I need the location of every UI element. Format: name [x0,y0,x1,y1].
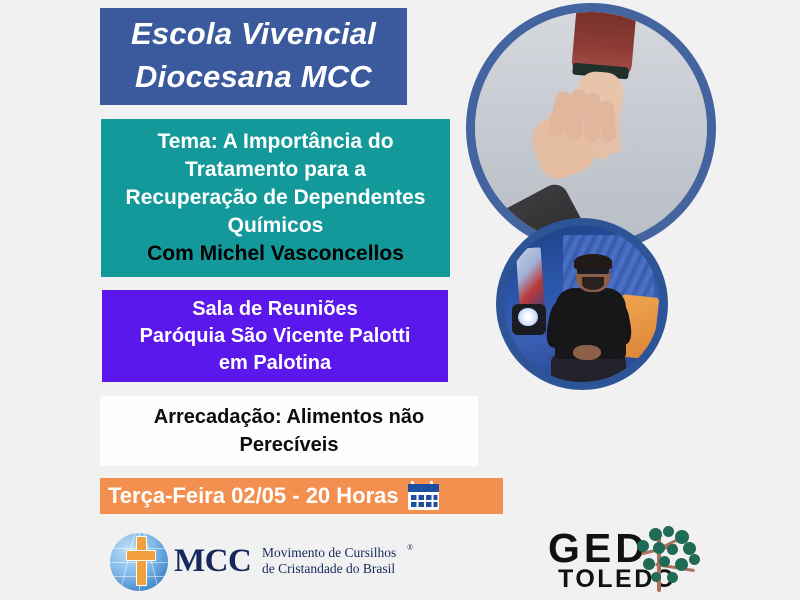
tree-leaf [689,554,700,565]
cross-horizontal-bar [126,550,156,561]
tree-leaf [649,528,662,541]
theme-line-1: Tema: A Importância do [157,128,393,156]
theme-line-2: Tratamento para a [185,156,366,184]
tree-leaf [675,558,688,571]
donation-box: Arrecadação: Alimentos não Perecíveis [100,396,478,466]
cross-icon [126,536,156,586]
location-box: Sala de Reuniões Paróquia São Vicente Pa… [102,290,448,382]
location-line-1: Sala de Reuniões [192,296,358,323]
tree-leaf [659,556,670,567]
event-poster: Escola Vivencial Diocesana MCC Tema: A I… [0,0,800,600]
photo-speaker-beard [582,277,604,289]
calendar-icon [407,480,440,511]
date-bar: Terça-Feira 02/05 - 20 Horas [100,478,503,514]
tree-leaf [637,540,649,552]
tree-leaf [651,572,661,582]
photo-stage-light [512,304,546,335]
photo-speaker-hands [573,345,601,361]
photo-speaker-glasses [577,267,608,274]
poster-title-line-2: Diocesana MCC [135,55,372,98]
tree-leaf [667,572,678,583]
mcc-subtitle-line-1: Movimento de Cursilhos [262,545,396,561]
poster-title-line-1: Escola Vivencial [131,12,376,55]
mcc-subtitle: Movimento de Cursilhos de Cristandade do… [262,545,396,577]
speaker-portrait-photo [496,218,668,390]
poster-title-box: Escola Vivencial Diocesana MCC [100,8,407,105]
location-line-2: Paróquia São Vicente Palotti [140,323,411,350]
tree-leaf [643,558,655,570]
mcc-wordmark: MCC [174,544,251,578]
theme-line-3: Recuperação de Dependentes [126,184,426,212]
registered-trademark-icon: ® [407,543,413,552]
tree-leaf [653,542,665,554]
date-text: Terça-Feira 02/05 - 20 Horas [108,483,399,509]
theme-speaker-name: Com Michel Vasconcellos [147,240,404,268]
theme-line-4: Químicos [228,212,324,240]
photo-lower-finger [584,93,600,142]
helping-hands-photo [466,3,716,253]
tree-leaf [667,544,678,555]
tree-icon [633,526,729,594]
ged-toledo-logo: GED TOLEDO [548,528,728,594]
mcc-subtitle-line-2: de Cristandade do Brasil [262,561,396,577]
location-line-3: em Palotina [219,350,331,377]
donation-line-1: Arrecadação: Alimentos não [154,403,424,431]
cross-vertical-bar [136,536,147,586]
donation-line-2: Perecíveis [240,431,339,459]
mcc-logo: MCC Movimento de Cursilhos de Cristandad… [110,531,400,593]
theme-box: Tema: A Importância do Tratamento para a… [101,119,450,277]
tree-leaf [663,526,674,537]
